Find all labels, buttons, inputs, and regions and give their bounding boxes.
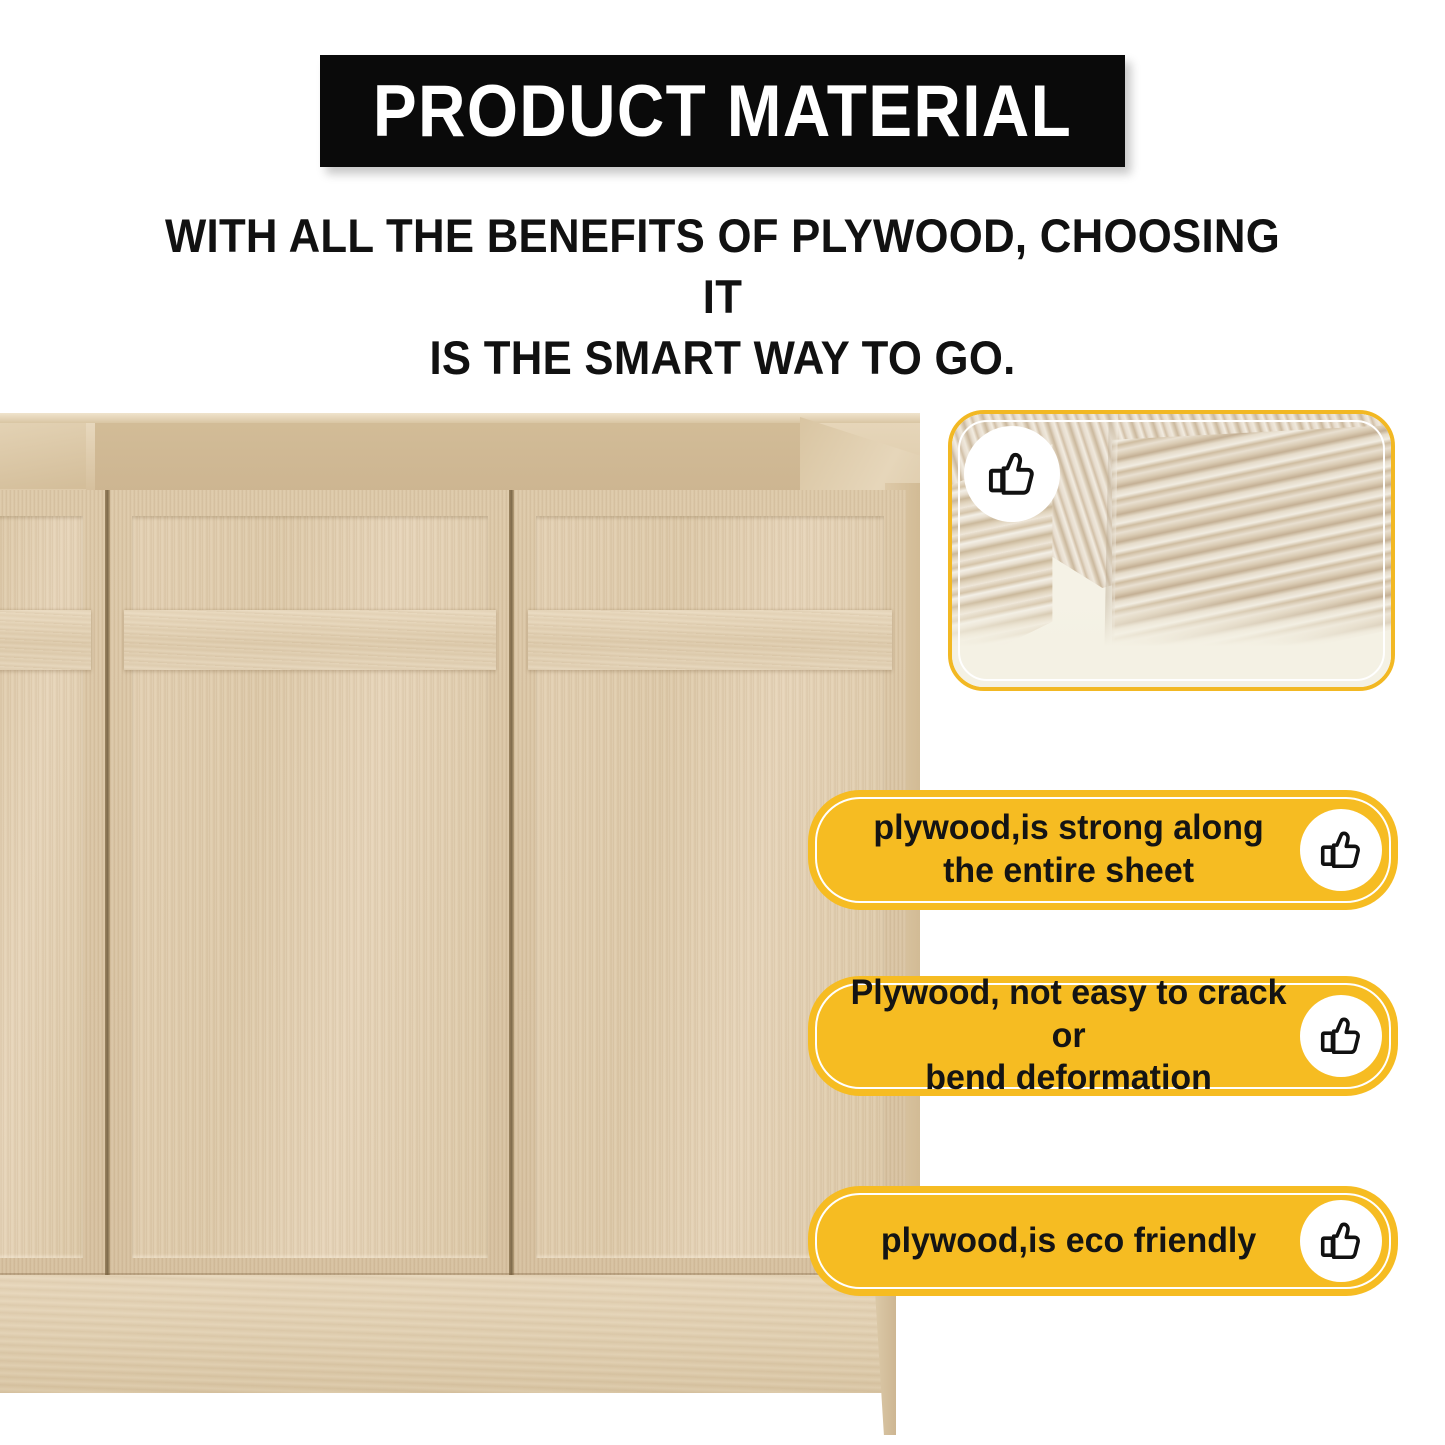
- page-title-banner: PRODUCT MATERIAL: [320, 55, 1125, 167]
- pill-thumbs-up-badge: [1300, 995, 1382, 1077]
- cabinet-door-1[interactable]: [0, 490, 105, 1280]
- feature-pill-durability[interactable]: Plywood, not easy to crack or bend defor…: [808, 976, 1398, 1096]
- feature-line-1: plywood,is strong along: [873, 808, 1263, 847]
- feature-line-2: the entire sheet: [943, 851, 1194, 890]
- feature-line-1: Plywood, not easy to crack or: [851, 973, 1287, 1055]
- cabinet-interior-left-cell: [0, 423, 88, 489]
- cabinet-door-2[interactable]: [110, 490, 510, 1280]
- page-subtitle: WITH ALL THE BENEFITS OF PLYWOOD, CHOOSI…: [120, 205, 1325, 388]
- thumbs-up-icon: [1315, 1010, 1367, 1062]
- pill-thumbs-up-badge: [1300, 809, 1382, 891]
- feature-line-2: bend deformation: [925, 1058, 1212, 1097]
- cabinet-plinth: [0, 1275, 885, 1393]
- feature-pill-durability-text: Plywood, not easy to crack or bend defor…: [815, 972, 1292, 1100]
- thumbs-up-icon: [1315, 1215, 1367, 1267]
- feature-pill-eco[interactable]: plywood,is eco friendly: [808, 1186, 1398, 1296]
- card-thumbs-up-badge: [964, 426, 1060, 522]
- door-3-rail: [528, 610, 892, 670]
- cabinet-interior-divider: [86, 417, 95, 493]
- feature-pill-strength-text: plywood,is strong along the entire sheet: [815, 807, 1292, 892]
- thumbs-up-icon: [982, 444, 1042, 504]
- feature-pill-strength[interactable]: plywood,is strong along the entire sheet: [808, 790, 1398, 910]
- door-2-rail: [124, 610, 496, 670]
- feature-line-1: plywood,is eco friendly: [881, 1221, 1256, 1260]
- feature-pill-eco-text: plywood,is eco friendly: [815, 1220, 1292, 1263]
- plywood-backdrop-fade: [952, 597, 1391, 687]
- subtitle-line-2: IS THE SMART WAY TO GO.: [162, 327, 1283, 388]
- plywood-material-card: [948, 410, 1395, 691]
- subtitle-line-1: WITH ALL THE BENEFITS OF PLYWOOD, CHOOSI…: [162, 205, 1283, 327]
- thumbs-up-icon: [1315, 824, 1367, 876]
- door-1-rail: [0, 610, 91, 670]
- cabinet-interior-back: [92, 423, 802, 491]
- pill-thumbs-up-badge: [1300, 1200, 1382, 1282]
- cabinet-top-edge: [0, 413, 920, 423]
- page-title: PRODUCT MATERIAL: [373, 75, 1072, 148]
